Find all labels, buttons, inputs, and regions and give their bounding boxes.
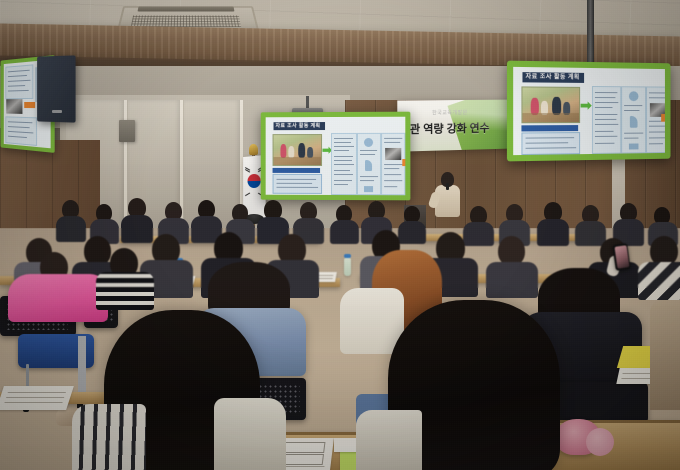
projection-screen[interactable]: 자료 조사 활동 계획 ➡ [261,112,411,201]
attendee-body [398,221,426,244]
slide-photo [273,134,323,166]
slide-left-col-b [5,116,37,146]
smartphone-screen [614,245,629,268]
pink-jacket-attendee [8,274,108,322]
wall-control-box[interactable] [119,120,135,142]
water-bottle[interactable] [344,258,351,276]
attendee-body [575,221,606,246]
slide-orange-tab [402,159,405,166]
slide-blue-box [273,174,323,194]
speaker-label [52,110,62,113]
projection-screen-surface: 자료 조사 활동 계획 ➡ [266,117,406,196]
lecture-hall-photo: 한국교육개발원 기관 역량 강화 연수 자료 조사 활동 계획 [0,0,680,470]
attendee-body [56,216,86,242]
attendee-body [330,220,359,244]
attendee-body [486,262,538,298]
attendee-body-edge [650,300,680,410]
attendee-body [463,222,494,246]
attendee-body-striped [96,272,154,310]
chair-column [78,336,86,398]
slide-content-right: 자료 조사 활동 계획 ➡ [513,67,665,155]
slide-column-1-right [592,86,621,154]
slide-left-orange [24,102,35,108]
wall-monitor-right-surface: 자료 조사 활동 계획 ➡ [513,67,665,155]
slide-photo-right [521,86,580,123]
slide-content: 자료 조사 활동 계획 ➡ [266,117,406,196]
slide-left-col-a [5,64,33,99]
air-vent-grille [131,15,241,27]
monitor-mount-arm-right [587,0,594,64]
slide-blue-bar [273,168,321,173]
attendee-body [537,219,569,246]
wall-monitor-right[interactable]: 자료 조사 활동 계획 ➡ [507,61,671,162]
foreground-attendee-striped-top [72,404,146,470]
air-vent-slot [138,7,235,12]
attendee-body-argyle [638,262,680,300]
slide-column-2-right [621,86,646,153]
attendee-body [121,215,153,243]
foreground-attendee-shoulder [214,398,286,470]
slide-title: 자료 조사 활동 계획 [274,122,326,130]
event-banner: 한국교육개발원 기관 역량 강화 연수 [397,100,518,152]
slide-column-2 [357,133,381,195]
slide-blue-bar-right [521,125,578,131]
flag-finial [249,144,258,155]
slide-blue-box-right [521,132,580,155]
handout-paper [0,386,74,410]
bottle-cap [344,254,351,258]
flag-taeguk-blue [248,181,261,188]
microphone-icon [446,183,449,190]
slide-column-1 [331,133,357,195]
banner-glare [397,100,518,152]
slide-title-right: 자료 조사 활동 계획 [522,72,584,83]
slide-arrow-right: ➡ [580,98,592,112]
foreground-attendee-shoulder-2 [356,410,422,470]
slide-orange-tab-right [661,114,665,122]
slide-left-thumb [6,99,22,114]
